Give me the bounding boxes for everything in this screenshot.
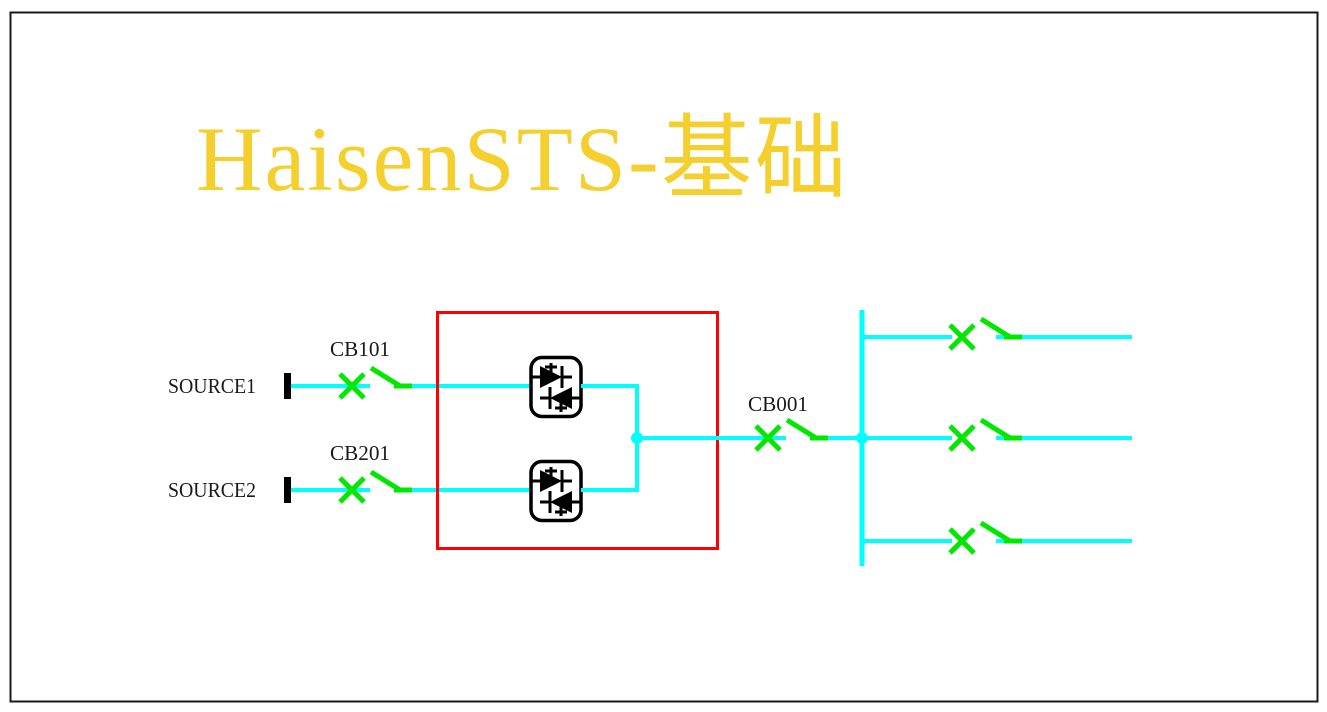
feeder-1-switch[interactable] xyxy=(950,319,1022,349)
scr-pair-source2[interactable] xyxy=(531,462,581,521)
source-1-label: SOURCE1 xyxy=(168,374,256,398)
cb001-breaker[interactable] xyxy=(756,420,828,450)
scr-pair-source1[interactable] xyxy=(531,358,581,417)
feeder-2-blade xyxy=(981,420,1010,438)
feeder-1 xyxy=(862,319,1132,349)
feeder-3 xyxy=(862,523,1132,553)
cb201-breaker[interactable] xyxy=(340,472,412,502)
feeder-3-switch[interactable] xyxy=(950,523,1022,553)
source-1-branch: SOURCE1 CB101 xyxy=(168,337,530,399)
source-2-label: SOURCE2 xyxy=(168,478,256,502)
cb101-breaker[interactable] xyxy=(340,368,412,398)
cb001-label: CB001 xyxy=(748,392,808,416)
feeder-1-blade xyxy=(981,319,1010,337)
feeder-3-blade xyxy=(981,523,1010,541)
cb101-label: CB101 xyxy=(330,337,390,361)
page-title: HaisenSTS-基础 xyxy=(196,108,849,210)
feeder-2 xyxy=(862,420,1132,450)
cb001-blade xyxy=(787,420,816,438)
source-1-terminal xyxy=(284,373,291,399)
source-2-branch: SOURCE2 CB201 xyxy=(168,441,530,503)
source-2-terminal xyxy=(284,477,291,503)
feeder-2-switch[interactable] xyxy=(950,420,1022,450)
cb101-blade xyxy=(371,368,400,386)
diagram-canvas: HaisenSTS-基础 SOURCE1 CB101 SOURCE2 xyxy=(0,0,1327,712)
single-line-diagram: HaisenSTS-基础 SOURCE1 CB101 SOURCE2 xyxy=(0,0,1327,712)
cb201-label: CB201 xyxy=(330,441,390,465)
cb201-blade xyxy=(371,472,400,490)
